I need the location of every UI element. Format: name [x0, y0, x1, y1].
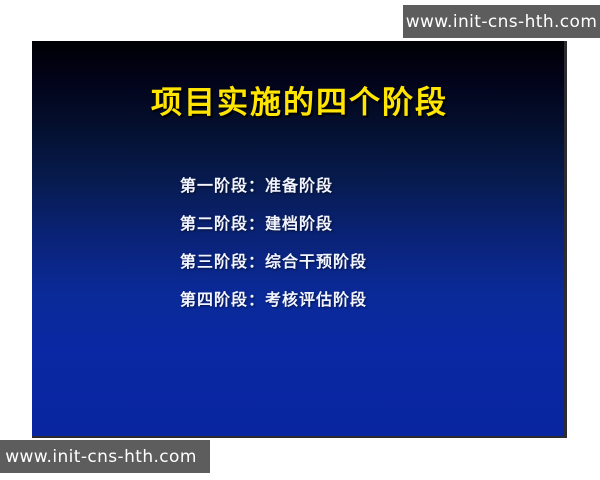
slide-title: 项目实施的四个阶段 — [32, 86, 567, 120]
presentation-slide: 项目实施的四个阶段 第一阶段：准备阶段 第二阶段：建档阶段 第三阶段：综合干预阶… — [32, 41, 567, 438]
watermark-bottom-left: www.init-cns-hth.com — [0, 440, 210, 473]
slide-edge-bottom — [32, 436, 567, 438]
list-item: 第三阶段：综合干预阶段 — [180, 243, 540, 281]
slide-body-list: 第一阶段：准备阶段 第二阶段：建档阶段 第三阶段：综合干预阶段 第四阶段：考核评… — [180, 167, 540, 319]
watermark-top-right: www.init-cns-hth.com — [403, 5, 600, 38]
list-item: 第二阶段：建档阶段 — [180, 205, 540, 243]
list-item: 第一阶段：准备阶段 — [180, 167, 540, 205]
slide-edge-right — [564, 41, 567, 438]
list-item: 第四阶段：考核评估阶段 — [180, 281, 540, 319]
